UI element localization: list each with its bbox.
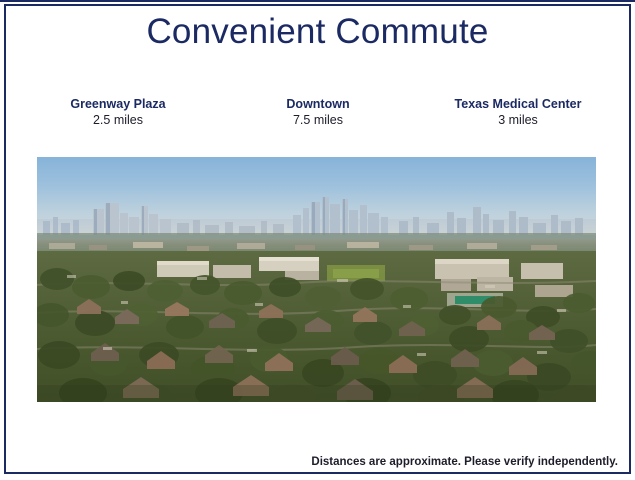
- destination-distance: 3 miles: [418, 112, 618, 129]
- slide-top-rule: [0, 0, 635, 2]
- destination-item-texas-medical-center: Texas Medical Center 3 miles: [418, 96, 618, 129]
- destination-name: Greenway Plaza: [18, 96, 218, 112]
- aerial-photo-illustration: [37, 157, 596, 402]
- destinations-row: Greenway Plaza 2.5 miles Downtown 7.5 mi…: [18, 96, 618, 129]
- destination-distance: 2.5 miles: [18, 112, 218, 129]
- slide-canvas: Convenient Commute Greenway Plaza 2.5 mi…: [0, 0, 635, 480]
- destination-name: Texas Medical Center: [418, 96, 618, 112]
- destination-distance: 7.5 miles: [218, 112, 418, 129]
- page-title: Convenient Commute: [0, 11, 635, 53]
- destination-item-greenway-plaza: Greenway Plaza 2.5 miles: [18, 96, 218, 129]
- destination-name: Downtown: [218, 96, 418, 112]
- destination-item-downtown: Downtown 7.5 miles: [218, 96, 418, 129]
- aerial-photo: [37, 157, 596, 402]
- disclaimer-text: Distances are approximate. Please verify…: [311, 456, 618, 468]
